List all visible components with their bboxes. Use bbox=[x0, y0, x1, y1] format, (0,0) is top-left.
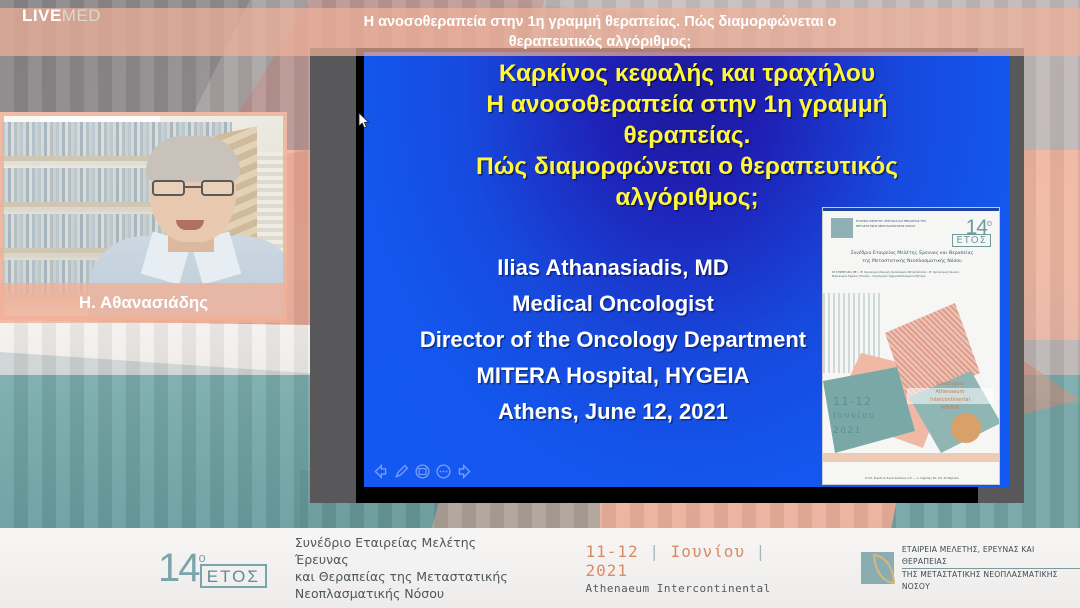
poster-venue-prefix: Ξενοδοχείο bbox=[907, 380, 993, 388]
footer-date-days: 11-12 bbox=[586, 542, 639, 561]
session-title-text: Η ανοσοθεραπεία στην 1η γραμμή θεραπείας… bbox=[220, 12, 860, 52]
slide-presenter-specialty: Medical Oncologist bbox=[378, 288, 848, 320]
footer-society-line2: ΤΗΣ ΜΕΤΑΣΤΑΤΙΚΗΣ ΝΕΟΠΛΑΣΜΑΤΙΚΗΣ ΝΟΣΟΥ bbox=[902, 569, 1080, 592]
poster-date-days: 11-12 bbox=[833, 394, 876, 409]
mouse-cursor-icon bbox=[358, 112, 370, 135]
footer-year-logo: 14 ο ΕΤΟΣ bbox=[158, 548, 267, 588]
footer-date-sep: | bbox=[649, 542, 660, 561]
poster-dates: 11-12 Ιουνίου 2021 bbox=[833, 394, 876, 439]
session-title-banner: Η ανοσοθεραπεία στην 1η γραμμή θεραπείας… bbox=[0, 8, 1080, 56]
speaker-name-text: Η. Αθανασιάδης bbox=[79, 293, 208, 313]
slide-title-line: θεραπείας. bbox=[384, 120, 990, 151]
slide-presenter-role: Director of the Oncology Department bbox=[378, 324, 848, 356]
footer-society-logo: ΕΤΑΙΡΕΙΑ ΜΕΛΕΤΗΣ, ΕΡΕΥΝΑΣ ΚΑΙ ΘΕΡΑΠΕΙΑΣ … bbox=[861, 544, 1080, 592]
slide-title: Καρκίνος κεφαλής και τραχήλου Η ανοσοθερ… bbox=[384, 58, 990, 213]
poster-society-text: ΕΤΑΙΡΕΙΑ ΜΕΛΕΤΗΣ, ΕΡΕΥΝΑΣ ΚΑΙ ΘΕΡΑΠΕΙΑΣ … bbox=[856, 219, 936, 229]
slide-presenter-block: Ilias Athanasiadis, MD Medical Oncologis… bbox=[378, 252, 848, 432]
poster-venue: Ξενοδοχείο Athenaeum Intercontinental ΑΘ… bbox=[907, 380, 993, 412]
next-slide-icon[interactable] bbox=[456, 463, 473, 480]
poster-date-year: 2021 bbox=[833, 424, 876, 439]
slide-title-line: Η ανοσοθεραπεία στην 1η γραμμή bbox=[384, 89, 990, 120]
speaker-name-bar: Η. Αθανασιάδης bbox=[0, 283, 287, 323]
poster-date-month: Ιουνίου bbox=[833, 409, 876, 424]
footer-society-text: ΕΤΑΙΡΕΙΑ ΜΕΛΕΤΗΣ, ΕΡΕΥΝΑΣ ΚΑΙ ΘΕΡΑΠΕΙΑΣ … bbox=[902, 544, 1080, 592]
livemed-logo: LIVEMED bbox=[22, 6, 101, 26]
menu-icon[interactable] bbox=[435, 463, 452, 480]
footer-year-number: 14 bbox=[158, 548, 199, 588]
conference-footer-bar: 14 ο ΕΤΟΣ Συνέδριο Εταιρείας Μελέτης Έρε… bbox=[0, 528, 1080, 608]
slide-title-line: Πώς διαμορφώνεται ο θεραπευτικός bbox=[384, 151, 990, 182]
poster-year-label: ΕΤΟΣ bbox=[952, 234, 991, 247]
conference-poster-thumbnail: ΕΤΑΙΡΕΙΑ ΜΕΛΕΤΗΣ, ΕΡΕΥΝΑΣ ΚΑΙ ΘΕΡΑΠΕΙΑΣ … bbox=[822, 207, 1000, 485]
poster-society-logo-icon bbox=[831, 218, 853, 238]
screen-icon[interactable] bbox=[414, 463, 431, 480]
footer-conference-line: και Θεραπείας της Μεταστατικής bbox=[295, 568, 524, 585]
poster-venue-name2: Intercontinental bbox=[907, 396, 993, 404]
poster-conference-line: της Μεταστατικής Νεοπλασματικής Νόσου bbox=[831, 258, 993, 266]
poster-conference-title: Συνέδριο Εταιρείας Μελέτης Έρευνας και Θ… bbox=[831, 250, 993, 265]
poster-seal-icon bbox=[951, 413, 981, 443]
footer-date-sep: | bbox=[756, 542, 767, 561]
footer-date-month: Ιουνίου bbox=[671, 542, 745, 561]
poster-organizers: ΣΕ ΣΥΝΕΡΓΑΣΙΑ ΜΕ: • Β' Ογκολογική Κλινικ… bbox=[832, 271, 972, 279]
poster-footer-bar bbox=[823, 453, 1000, 462]
society-emblem-icon bbox=[861, 552, 893, 584]
presentation-controls[interactable] bbox=[372, 463, 473, 480]
poster-conference-line: Συνέδριο Εταιρείας Μελέτης Έρευνας και Θ… bbox=[831, 250, 993, 258]
footer-society-line1: ΕΤΑΙΡΕΙΑ ΜΕΛΕΤΗΣ, ΕΡΕΥΝΑΣ ΚΑΙ ΘΕΡΑΠΕΙΑΣ bbox=[902, 544, 1080, 569]
poster-top-rule bbox=[823, 208, 999, 211]
previous-slide-icon[interactable] bbox=[372, 463, 389, 480]
poster-venue-city: ΑΘΗΝΑ bbox=[907, 404, 993, 412]
livemed-logo-med: MED bbox=[62, 6, 101, 25]
presentation-slide[interactable]: Καρκίνος κεφαλής και τραχήλου Η ανοσοθερ… bbox=[364, 52, 1010, 487]
slide-presenter-name: Ilias Athanasiadis, MD bbox=[378, 252, 848, 284]
slide-title-line: Καρκίνος κεφαλής και τραχήλου bbox=[384, 58, 990, 89]
pen-icon[interactable] bbox=[393, 463, 410, 480]
footer-date-year: 2021 bbox=[586, 561, 629, 580]
poster-venue-name: Athenaeum bbox=[907, 388, 993, 396]
poster-footer-text: Ε.Π.Ε. Events & Travel Solutions Α.Ε. — … bbox=[827, 477, 997, 481]
footer-conference-title: Συνέδριο Εταιρείας Μελέτης Έρευνας και Θ… bbox=[295, 534, 524, 602]
footer-conference-line: Συνέδριο Εταιρείας Μελέτης Έρευνας bbox=[295, 534, 524, 568]
footer-year-sup: ο bbox=[199, 550, 206, 565]
footer-date-line: 11-12 | Ιουνίου | 2021 bbox=[586, 542, 810, 580]
livemed-logo-live: LIVE bbox=[22, 6, 62, 25]
slide-presenter-location: Athens, June 12, 2021 bbox=[378, 396, 848, 428]
footer-date-venue: 11-12 | Ιουνίου | 2021 Athenaeum Interco… bbox=[586, 542, 810, 595]
footer-conference-line: Νεοπλασματικής Νόσου bbox=[295, 585, 524, 602]
slide-presenter-affiliation: MITERA Hospital, HYGEIA bbox=[378, 360, 848, 392]
poster-year-sup: ο bbox=[987, 218, 991, 228]
footer-year-label: ΕΤΟΣ bbox=[200, 564, 267, 588]
footer-venue: Athenaeum Intercontinental bbox=[586, 582, 810, 595]
